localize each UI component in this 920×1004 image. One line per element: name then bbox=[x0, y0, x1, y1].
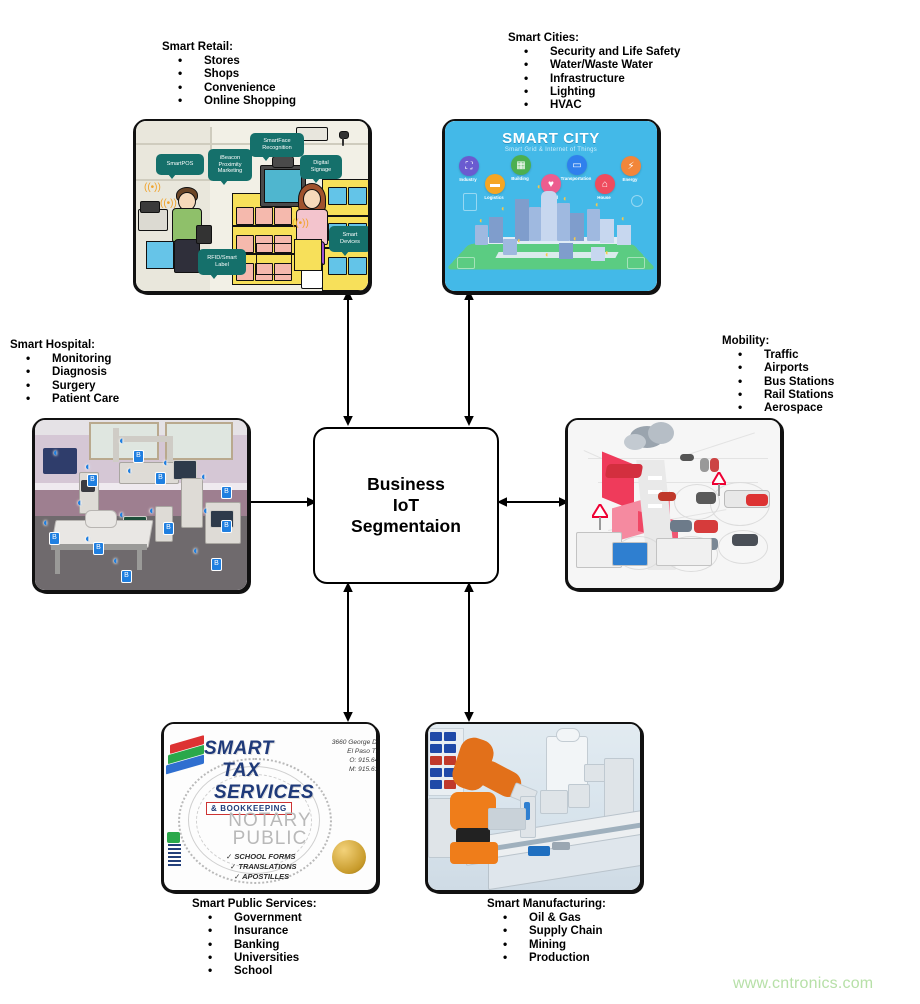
city-icon-transportation: ▭ Transportation bbox=[567, 155, 587, 175]
tax-address-line-2: El Paso TX, bbox=[286, 747, 376, 756]
tax-address-line-4: M: 915.613 bbox=[286, 765, 376, 774]
city-icon-logistics: ▬ Logistics bbox=[485, 174, 505, 194]
retail-bubble-ibeacon: iBeacon Proximity Marketing bbox=[208, 149, 252, 181]
smart-city-illustration: SMART CITY Smart Grid & Internet of Thin… bbox=[445, 121, 657, 291]
city-icon-label: House bbox=[576, 195, 632, 200]
image-mobility[interactable] bbox=[566, 418, 782, 590]
city-icon-building: ▦ Building bbox=[511, 155, 531, 175]
list-item: Aerospace bbox=[722, 402, 834, 415]
tax-address-line-1: 3660 George Die bbox=[286, 738, 376, 747]
label-smart-hospital: Smart Hospital: Monitoring Diagnosis Sur… bbox=[10, 339, 119, 406]
label-smart-retail: Smart Retail: Stores Shops Convenience O… bbox=[162, 41, 296, 108]
retail-bubble-smartface: SmartFace Recognition bbox=[250, 133, 304, 157]
arrow-center-to-mobility bbox=[497, 495, 569, 509]
list-item: Online Shopping bbox=[162, 95, 296, 108]
list-item: School bbox=[192, 965, 317, 978]
image-smart-manufacturing[interactable] bbox=[426, 722, 642, 892]
tax-qr-code bbox=[168, 844, 181, 866]
list-item: Water/Waste Water bbox=[508, 59, 680, 72]
smart-public-services-list: Government Insurance Banking Universitie… bbox=[192, 912, 317, 978]
label-smart-public-services: Smart Public Services: Government Insura… bbox=[192, 898, 317, 978]
retail-bubble-rfid: RFID/Smart Label bbox=[198, 249, 246, 275]
city-icon-energy: ⚡ Energy bbox=[621, 156, 641, 176]
image-smart-public-services[interactable]: SMART TAX SERVICES & BOOKKEEPING NOTARY … bbox=[162, 722, 378, 892]
tax-gold-seal bbox=[332, 840, 366, 874]
list-item: Security and Life Safety bbox=[508, 46, 680, 59]
tax-check-1: ✓ SCHOOL FORMS bbox=[226, 852, 295, 861]
arrow-hospital-to-center bbox=[241, 495, 317, 509]
city-subtitle: Smart Grid & Internet of Things bbox=[445, 147, 657, 153]
city-icon-house: ⌂ House bbox=[595, 174, 615, 194]
image-smart-hospital[interactable]: ◐ ◐ ◐ ◐ ◐ ◐ ◐ ◐ ◐ ◐ ◐ ◐ ◐ ◐ B B B B B B … bbox=[33, 418, 249, 592]
central-line-1: Business bbox=[351, 474, 461, 495]
smart-manufacturing-list: Oil & Gas Supply Chain Mining Production bbox=[487, 912, 606, 965]
smart-hospital-photo: ◐ ◐ ◐ ◐ ◐ ◐ ◐ ◐ ◐ ◐ ◐ ◐ ◐ ◐ B B B B B B … bbox=[35, 420, 247, 590]
tax-word-services: SERVICES bbox=[214, 782, 314, 804]
image-smart-cities[interactable]: SMART CITY Smart Grid & Internet of Thin… bbox=[443, 119, 659, 293]
tax-check-2: ✓ TRANSLATIONS bbox=[230, 862, 297, 871]
tax-word-smart: SMART bbox=[204, 738, 274, 760]
smart-cities-header: Smart Cities: bbox=[508, 32, 680, 45]
central-node-business-iot-segmentation[interactable]: Business IoT Segmentaion bbox=[313, 427, 499, 584]
label-smart-cities: Smart Cities: Security and Life Safety W… bbox=[508, 32, 680, 112]
list-item: Patient Care bbox=[10, 393, 119, 406]
list-item: Infrastructure bbox=[508, 73, 680, 86]
tax-address-line-3: O: 915.642 bbox=[286, 756, 376, 765]
label-mobility: Mobility: Traffic Airports Bus Stations … bbox=[722, 335, 834, 415]
mobility-list: Traffic Airports Bus Stations Rail Stati… bbox=[722, 349, 834, 415]
city-title: SMART CITY bbox=[445, 130, 657, 147]
retail-bubble-digital-signage: Digital Signage bbox=[300, 155, 342, 179]
tax-check-3: ✓ APOSTILLES bbox=[234, 872, 289, 881]
smart-retail-illustration: ((•)) ((•)) ((•)) SmartPOS iBeacon Proxi… bbox=[136, 121, 368, 291]
arrow-center-to-public-services bbox=[341, 582, 355, 722]
arrow-center-to-manufacturing bbox=[462, 582, 476, 722]
central-node-label: Business IoT Segmentaion bbox=[351, 474, 461, 537]
list-item: Lighting bbox=[508, 86, 680, 99]
smart-hospital-list: Monitoring Diagnosis Surgery Patient Car… bbox=[10, 353, 119, 406]
arrow-cities-to-center bbox=[462, 290, 476, 426]
list-item: Production bbox=[487, 952, 606, 965]
list-item: HVAC bbox=[508, 99, 680, 112]
image-smart-retail[interactable]: ((•)) ((•)) ((•)) SmartPOS iBeacon Proxi… bbox=[134, 119, 370, 293]
label-smart-manufacturing: Smart Manufacturing: Oil & Gas Supply Ch… bbox=[487, 898, 606, 965]
central-line-3: Segmentaion bbox=[351, 516, 461, 537]
retail-bubble-smart-devices: Smart Devices bbox=[329, 226, 368, 252]
retail-bubble-smartpos: SmartPOS bbox=[156, 154, 204, 175]
city-icon-industry: ⛶ Industry bbox=[459, 156, 479, 176]
tax-address: 3660 George Die El Paso TX, O: 915.642 M… bbox=[286, 738, 376, 774]
site-watermark: www.cntronics.com bbox=[733, 975, 873, 993]
tax-word-tax: TAX bbox=[222, 760, 260, 782]
smart-retail-list: Stores Shops Convenience Online Shopping bbox=[162, 55, 296, 108]
smart-manufacturing-photo bbox=[428, 724, 640, 890]
smart-cities-list: Security and Life Safety Water/Waste Wat… bbox=[508, 46, 680, 112]
smart-retail-header: Smart Retail: bbox=[162, 41, 296, 54]
smart-tax-services-photo: SMART TAX SERVICES & BOOKKEEPING NOTARY … bbox=[164, 724, 376, 890]
arrow-retail-to-center bbox=[341, 290, 355, 426]
central-line-2: IoT bbox=[351, 495, 461, 516]
mobility-illustration bbox=[568, 420, 780, 588]
